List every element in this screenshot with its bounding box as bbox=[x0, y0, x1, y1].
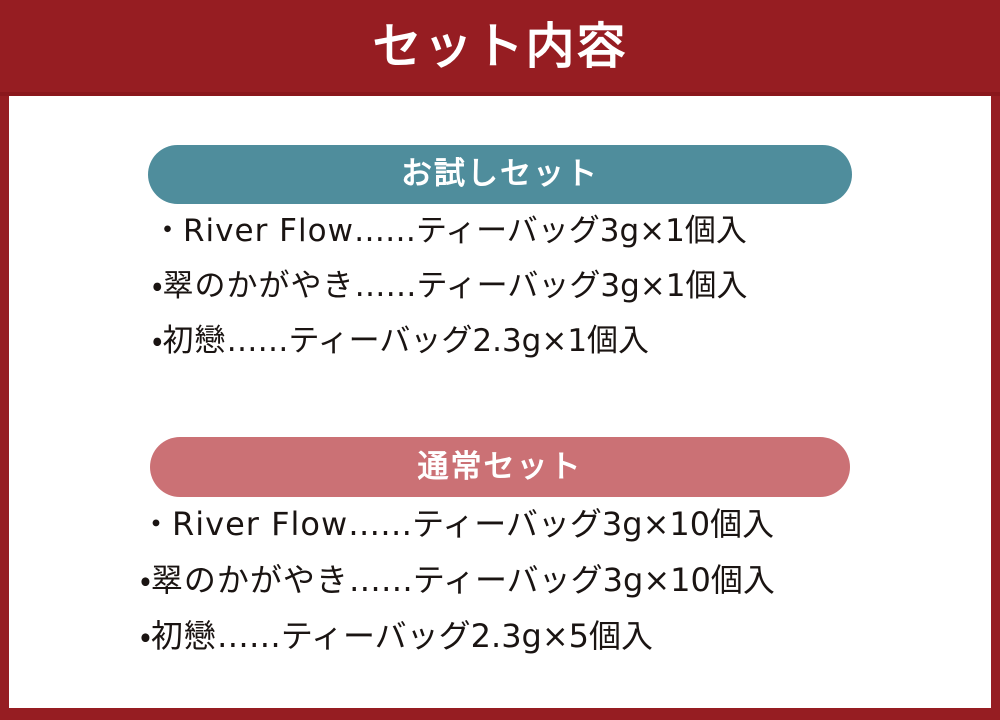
item-detail: ティーバッグ3g×10個入 bbox=[412, 505, 774, 543]
item-name: River Flow bbox=[172, 505, 348, 543]
section-badge-regular-set-label: 通常セット bbox=[418, 452, 583, 483]
item-bullet: ・ bbox=[152, 268, 163, 304]
item-detail: ティーバッグ2.3g×5個入 bbox=[281, 617, 653, 655]
item-detail: ティーバッグ3g×10個入 bbox=[413, 561, 775, 599]
regular-set-item-list: ・River Flow……ティーバッグ3g×10個入 ・翠のかがやき……ティーバ… bbox=[140, 508, 980, 652]
list-item: ・初戀……ティーバッグ2.3g×5個入 bbox=[140, 620, 980, 652]
item-leader: …… bbox=[349, 561, 413, 599]
frame-border-left bbox=[0, 96, 9, 720]
section-badge-trial-set-label: お試しセット bbox=[401, 159, 599, 190]
item-name: River Flow bbox=[183, 213, 354, 249]
item-leader: …… bbox=[354, 213, 416, 249]
section-badge-regular-set: 通常セット bbox=[150, 437, 850, 497]
item-detail: ティーバッグ3g×1個入 bbox=[417, 268, 748, 304]
list-item: ・翠のかがやき……ティーバッグ3g×10個入 bbox=[140, 564, 980, 596]
item-bullet: ・ bbox=[152, 323, 163, 359]
list-item: ・初戀……ティーバッグ2.3g×1個入 bbox=[152, 326, 972, 357]
list-item: ・River Flow……ティーバッグ3g×10個入 bbox=[140, 508, 980, 540]
item-detail: ティーバッグ3g×1個入 bbox=[416, 213, 747, 249]
set-contents-poster: セット内容 お試しセット ・River Flow……ティーバッグ3g×1個入 ・… bbox=[0, 0, 1000, 720]
item-name: 初戀 bbox=[151, 617, 217, 655]
item-bullet: ・ bbox=[140, 505, 172, 543]
content-area: お試しセット ・River Flow……ティーバッグ3g×1個入 ・翠のかがやき… bbox=[9, 96, 991, 708]
item-bullet: ・ bbox=[140, 561, 151, 599]
item-leader: …… bbox=[348, 505, 412, 543]
item-leader: …… bbox=[217, 617, 281, 655]
item-detail: ティーバッグ2.3g×1個入 bbox=[289, 323, 650, 359]
item-leader: …… bbox=[227, 323, 289, 359]
section-badge-trial-set: お試しセット bbox=[148, 145, 852, 204]
page-title: セット内容 bbox=[372, 22, 627, 71]
list-item: ・River Flow……ティーバッグ3g×1個入 bbox=[152, 216, 972, 247]
item-bullet: ・ bbox=[152, 213, 183, 249]
item-name: 翠のかがやき bbox=[163, 268, 355, 304]
frame-border-bottom bbox=[0, 708, 1000, 720]
header-band: セット内容 bbox=[0, 0, 1000, 96]
frame-border-right bbox=[991, 96, 1000, 720]
list-item: ・翠のかがやき……ティーバッグ3g×1個入 bbox=[152, 271, 972, 302]
item-name: 翠のかがやき bbox=[151, 561, 349, 599]
item-bullet: ・ bbox=[140, 617, 151, 655]
item-leader: …… bbox=[355, 268, 417, 304]
trial-set-item-list: ・River Flow……ティーバッグ3g×1個入 ・翠のかがやき……ティーバッ… bbox=[152, 216, 972, 357]
item-name: 初戀 bbox=[163, 323, 227, 359]
